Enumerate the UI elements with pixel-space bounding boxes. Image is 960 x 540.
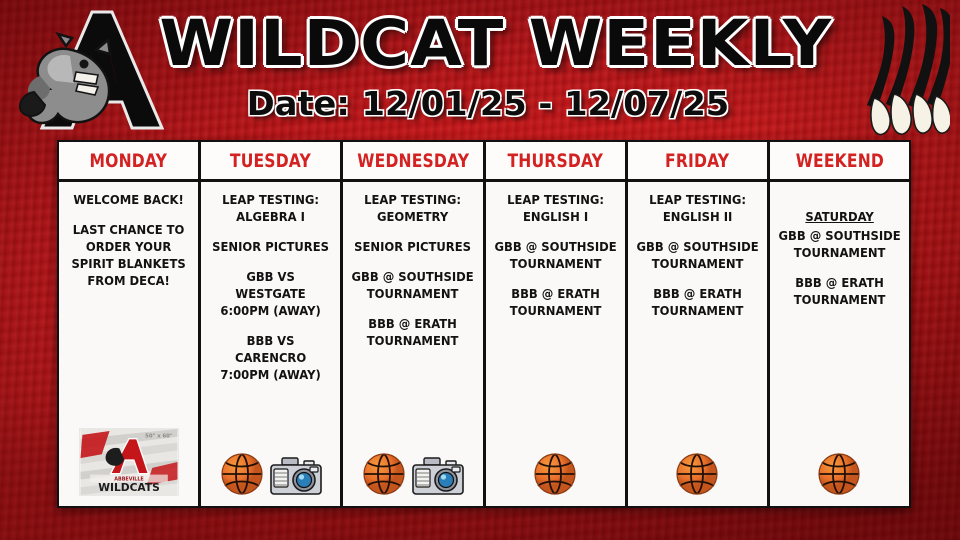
- basketball-icon: [362, 452, 406, 496]
- event-block: GBB @ SOUTHSIDE TOURNAMENT: [494, 239, 617, 273]
- title-block: WILDCAT WEEKLY Date: 12/01/25 - 12/07/25: [178, 6, 798, 136]
- event-block: GBB @ SOUTHSIDE TOURNAMENT: [778, 228, 901, 262]
- event-block: LAST CHANCE TO ORDER YOUR SPIRIT BLANKET…: [67, 222, 190, 290]
- event-block: LEAP TESTING: ALGEBRA I: [209, 192, 332, 226]
- event-block: BBB @ ERATH TOURNAMENT: [636, 286, 759, 320]
- event-block: GBB VS WESTGATE 6:00PM (AWAY): [209, 269, 332, 320]
- column-header-tuesday: TUESDAY: [201, 142, 340, 182]
- column-body-wednesday: LEAP TESTING: GEOMETRY SENIOR PICTURES G…: [343, 182, 482, 506]
- claw-marks-icon: [790, 2, 950, 138]
- column-header-monday: MONDAY: [59, 142, 198, 182]
- calendar-column-friday: FRIDAY LEAP TESTING: ENGLISH II GBB @ SO…: [628, 142, 770, 506]
- event-block: BBB @ ERATH TOURNAMENT: [494, 286, 617, 320]
- column-header-thursday: THURSDAY: [486, 142, 625, 182]
- wildcat-weekly-poster: WILDCAT WEEKLY Date: 12/01/25 - 12/07/25: [0, 0, 960, 540]
- camera-icon: [412, 456, 464, 496]
- calendar-column-tuesday: TUESDAY LEAP TESTING: ALGEBRA I SENIOR P…: [201, 142, 343, 506]
- event-block: LEAP TESTING: ENGLISH II: [636, 192, 759, 226]
- column-header-label: WEDNESDAY: [357, 150, 469, 172]
- column-icons-tuesday: [206, 452, 335, 504]
- column-header-label: MONDAY: [90, 150, 168, 172]
- column-body-monday: WELCOME BACK! LAST CHANCE TO ORDER YOUR …: [59, 182, 198, 506]
- event-block: BBB VS CARENCRO 7:00PM (AWAY): [209, 333, 332, 384]
- calendar-column-thursday: THURSDAY LEAP TESTING: ENGLISH I GBB @ S…: [486, 142, 628, 506]
- column-icons-thursday: [491, 452, 620, 504]
- event-block: BBB @ ERATH TOURNAMENT: [778, 275, 901, 309]
- event-block: LEAP TESTING: GEOMETRY: [352, 192, 475, 226]
- saturday-subheading: SATURDAY: [805, 210, 873, 224]
- column-body-weekend: SATURDAY GBB @ SOUTHSIDE TOURNAMENT BBB …: [770, 182, 909, 506]
- weekly-calendar-table: MONDAY WELCOME BACK! LAST CHANCE TO ORDE…: [57, 140, 911, 508]
- event-block: GBB @ SOUTHSIDE TOURNAMENT: [636, 239, 759, 273]
- calendar-column-weekend: WEEKEND SATURDAY GBB @ SOUTHSIDE TOURNAM…: [770, 142, 909, 506]
- event-block: SENIOR PICTURES: [209, 239, 332, 256]
- weekend-subheading-block: SATURDAY: [778, 192, 901, 226]
- poster-header: WILDCAT WEEKLY Date: 12/01/25 - 12/07/25: [0, 0, 960, 140]
- event-block: SENIOR PICTURES: [352, 239, 475, 256]
- column-icons-friday: [633, 452, 762, 504]
- wildcat-a-logo: [14, 4, 176, 136]
- spirit-blanket-image: ABBEVILLE WILDCATS 50" x 60": [79, 428, 179, 496]
- column-header-friday: FRIDAY: [628, 142, 767, 182]
- column-body-tuesday: LEAP TESTING: ALGEBRA I SENIOR PICTURES …: [201, 182, 340, 506]
- blanket-mascot-name: WILDCATS: [98, 481, 160, 494]
- blanket-size-label: 50" x 60": [145, 434, 173, 440]
- event-block: WELCOME BACK!: [67, 192, 190, 209]
- event-block: GBB @ SOUTHSIDE TOURNAMENT: [352, 269, 475, 303]
- basketball-icon: [817, 452, 861, 496]
- column-header-label: THURSDAY: [507, 150, 603, 172]
- event-block: BBB @ ERATH TOURNAMENT: [352, 316, 475, 350]
- basketball-icon: [675, 452, 719, 496]
- column-header-label: FRIDAY: [665, 150, 729, 172]
- basketball-icon: [533, 452, 577, 496]
- calendar-column-wednesday: WEDNESDAY LEAP TESTING: GEOMETRY SENIOR …: [343, 142, 485, 506]
- camera-icon: [270, 456, 322, 496]
- date-range-label: Date: 12/01/25 - 12/07/25: [172, 84, 804, 124]
- column-header-label: WEEKEND: [795, 150, 883, 172]
- column-body-thursday: LEAP TESTING: ENGLISH I GBB @ SOUTHSIDE …: [486, 182, 625, 506]
- column-header-wednesday: WEDNESDAY: [343, 142, 482, 182]
- column-header-weekend: WEEKEND: [770, 142, 909, 182]
- column-header-label: TUESDAY: [230, 150, 311, 172]
- column-body-friday: LEAP TESTING: ENGLISH II GBB @ SOUTHSIDE…: [628, 182, 767, 506]
- calendar-column-monday: MONDAY WELCOME BACK! LAST CHANCE TO ORDE…: [59, 142, 201, 506]
- column-icons-monday: ABBEVILLE WILDCATS 50" x 60": [64, 428, 193, 504]
- page-title: WILDCAT WEEKLY: [159, 6, 816, 82]
- column-icons-wednesday: [348, 452, 477, 504]
- column-icons-weekend: [775, 452, 904, 504]
- event-block: LEAP TESTING: ENGLISH I: [494, 192, 617, 226]
- basketball-icon: [220, 452, 264, 496]
